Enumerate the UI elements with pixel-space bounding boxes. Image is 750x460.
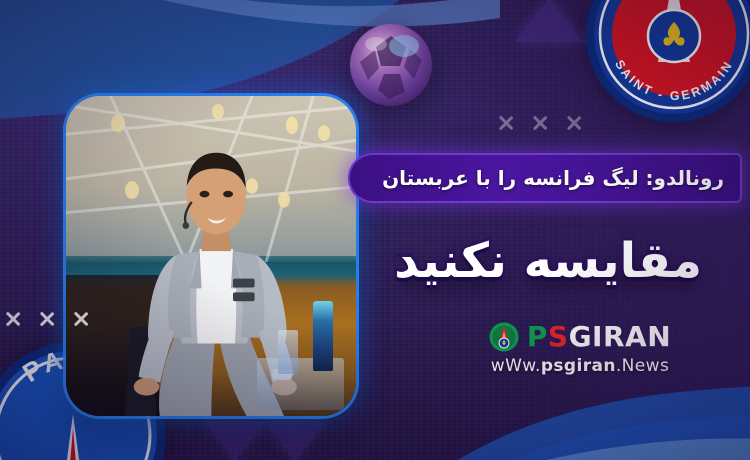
news-thumbnail-card: SAINT - GERMAIN PARIS <box>0 0 750 460</box>
vignette-overlay <box>0 0 750 460</box>
